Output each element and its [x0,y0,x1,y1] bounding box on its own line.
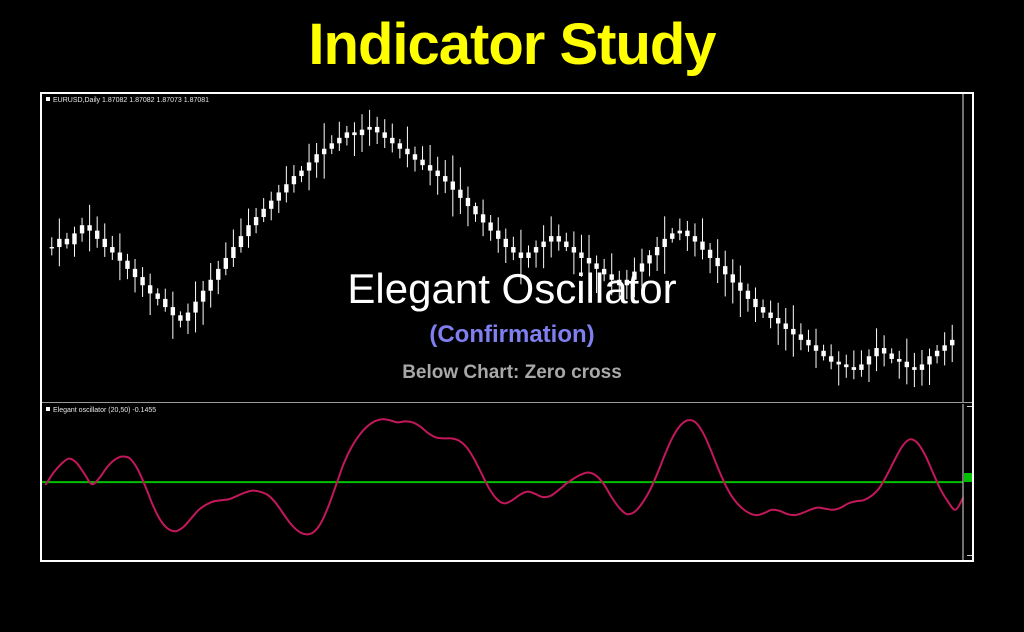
zero-level-chip [964,473,973,482]
indicator-pane-label: Elegant oscillator (20,50) -0.1455 [46,406,156,415]
chart-window: EURUSD,Daily 1.87082 1.87082 1.87073 1.8… [40,92,974,562]
indicator-pane: Elegant oscillator (20,50) -0.1455 [42,404,972,560]
pane-bullet-icon [46,407,50,411]
indicator-pane-label-text: Elegant oscillator (20,50) -0.1455 [53,407,156,414]
price-pane: EURUSD,Daily 1.87082 1.87082 1.87073 1.8… [42,94,972,403]
price-pane-label-text: EURUSD,Daily 1.87082 1.87082 1.87073 1.8… [53,97,209,104]
price-candlestick-chart [42,94,972,403]
price-pane-label: EURUSD,Daily 1.87082 1.87082 1.87073 1.8… [46,96,209,105]
scale-tick-bottom [967,555,972,556]
page-title: Indicator Study [0,12,1024,78]
scale-tick-top [967,406,972,407]
oscillator-line-chart [42,404,972,560]
pane-bullet-icon [46,97,50,101]
screenshot-root: Indicator Study EURUSD,Daily 1.87082 1.8… [0,0,1024,632]
